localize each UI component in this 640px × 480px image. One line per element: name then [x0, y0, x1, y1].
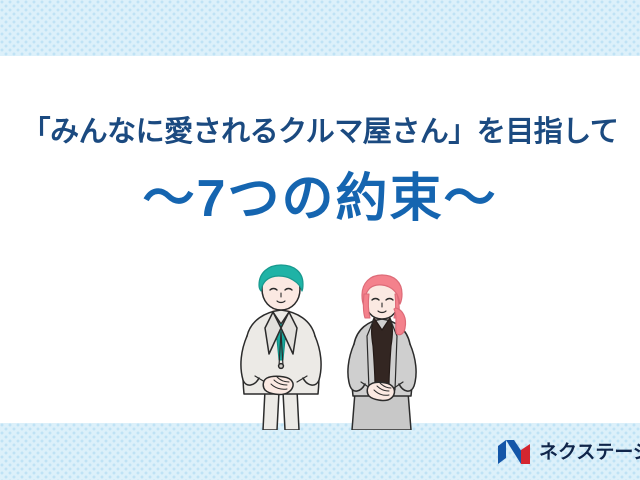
promise-banner: 「みんなに愛されるクルマ屋さん」を目指して 〜7つの約束〜 [0, 0, 640, 480]
top-dot-band [0, 0, 640, 56]
male-staff-figure [241, 265, 321, 430]
female-staff-figure [348, 275, 416, 430]
headline-block: 「みんなに愛されるクルマ屋さん」を目指して 〜7つの約束〜 [0, 112, 640, 230]
nexstage-n-mark-icon [497, 439, 531, 465]
headline-line-1: 「みんなに愛されるクルマ屋さん」を目指して [0, 112, 640, 152]
staff-illustration-svg [225, 262, 430, 430]
staff-illustration [225, 262, 430, 430]
headline-line-2: 〜7つの約束〜 [0, 168, 640, 230]
nexstage-logo: ネクステージ [497, 436, 627, 468]
nexstage-logo-text: ネクステージ [539, 443, 640, 462]
